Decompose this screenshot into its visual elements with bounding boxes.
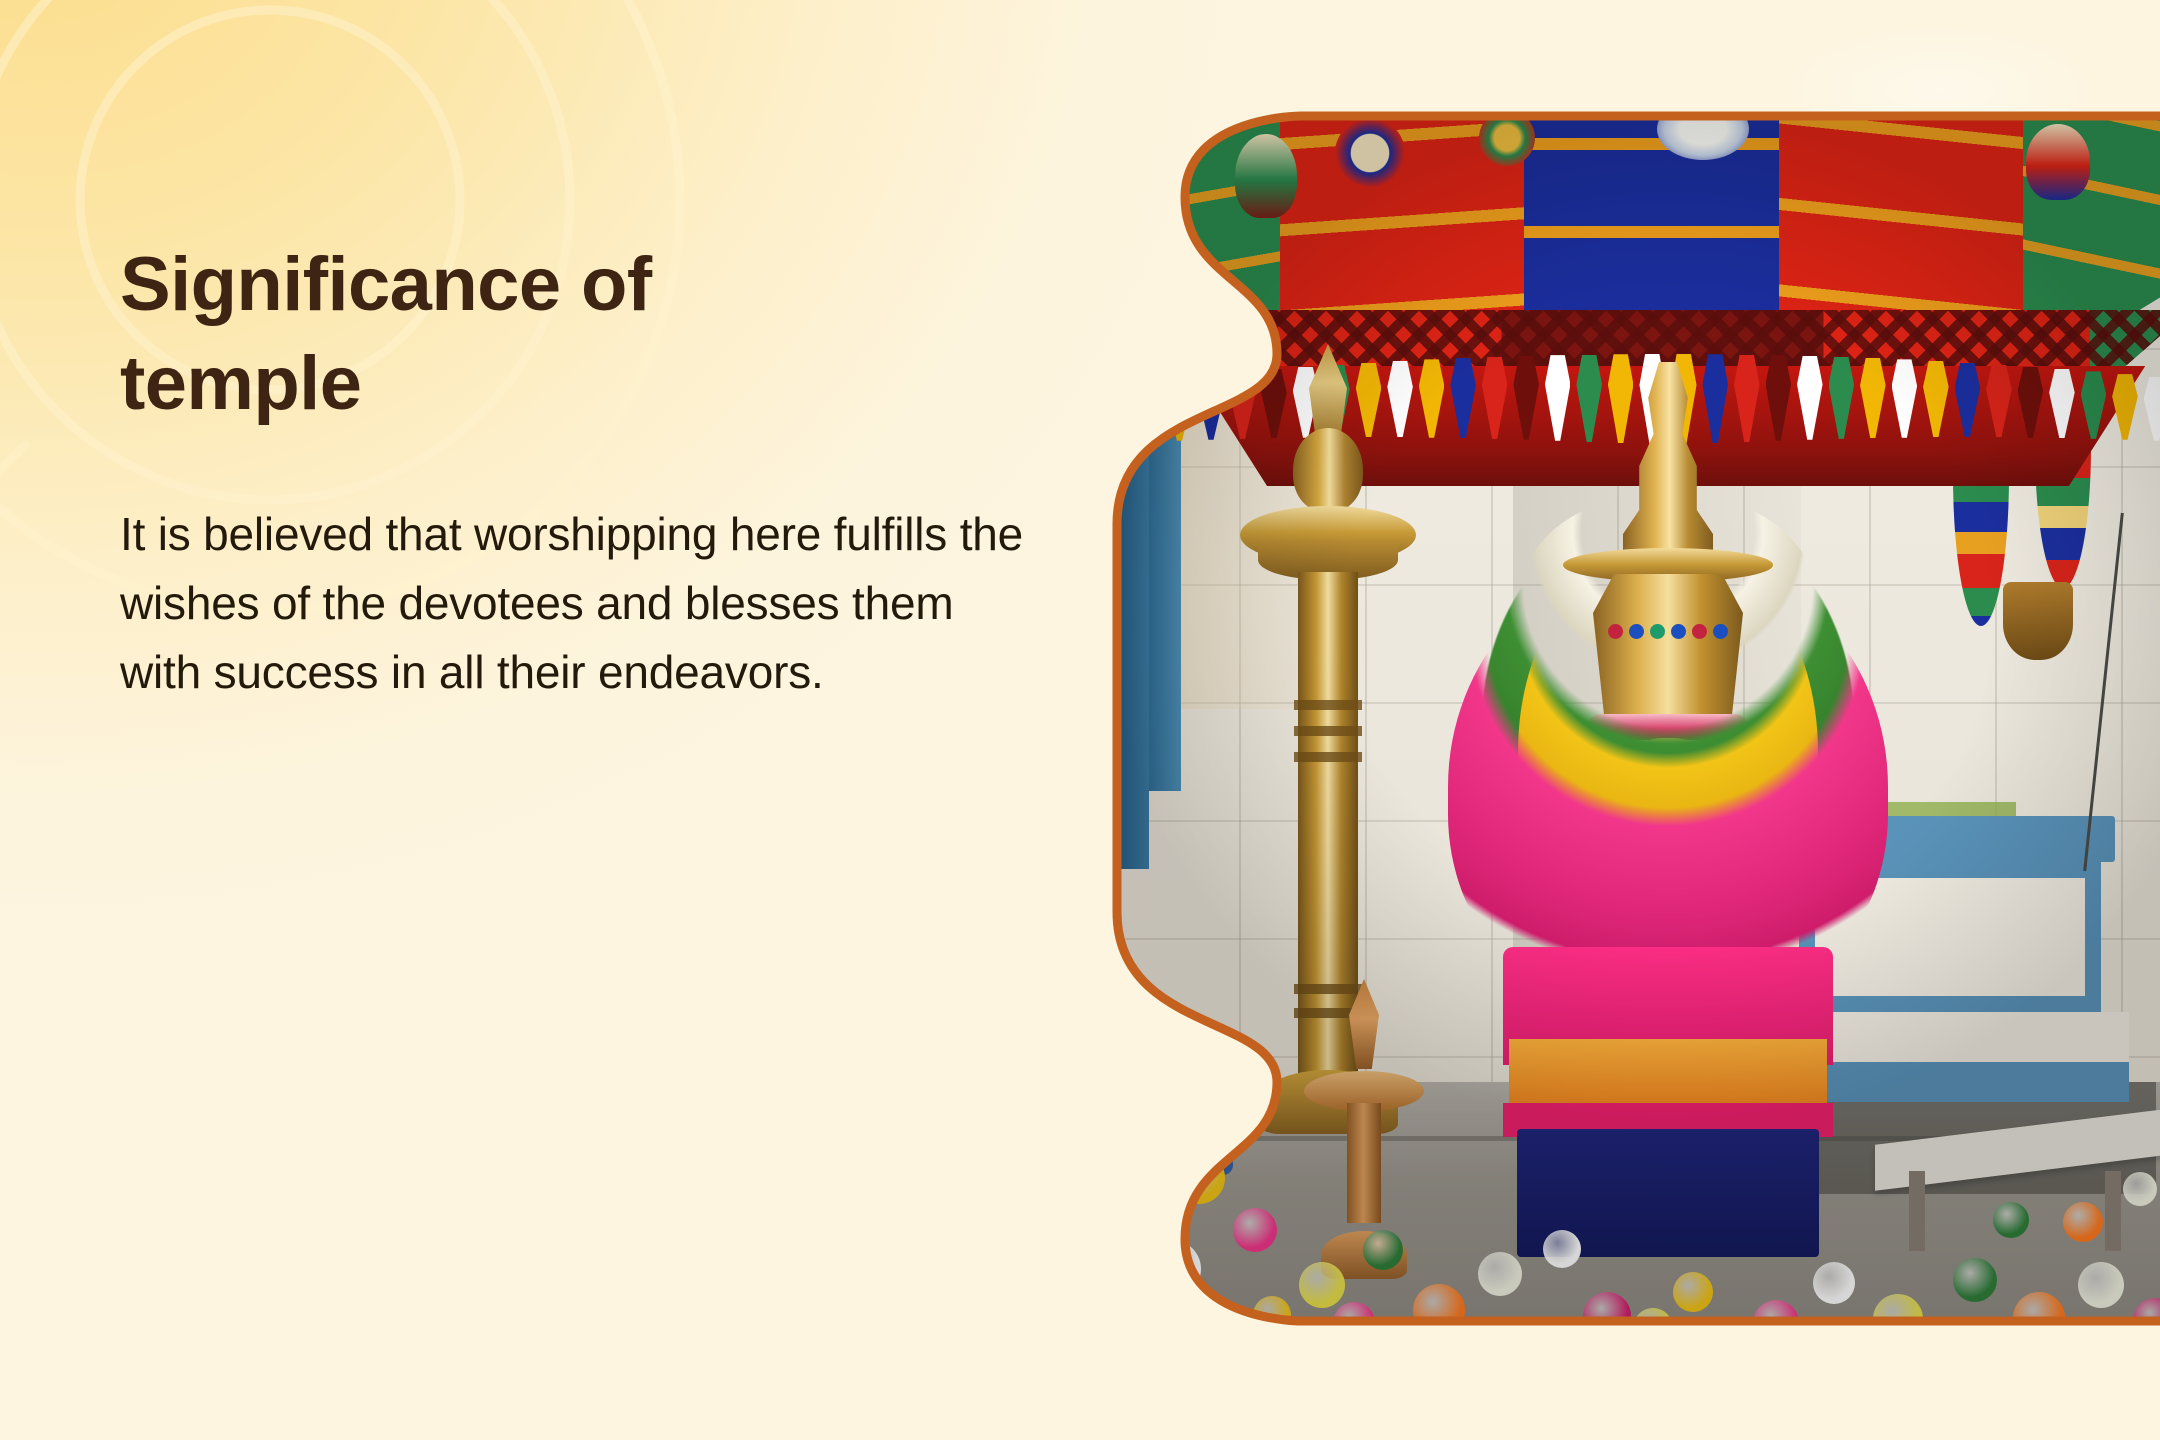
temple-photo-frame <box>1113 112 2160 1325</box>
slide-canvas: Significance of temple It is believed th… <box>0 0 2160 1440</box>
photo-vignette <box>1113 112 2160 1325</box>
text-column: Significance of temple It is believed th… <box>120 236 1040 707</box>
flower <box>1153 1292 1197 1325</box>
temple-scene <box>1113 112 2160 1325</box>
blue-bucket <box>1137 1109 1233 1175</box>
page-title: Significance of temple <box>120 236 820 434</box>
umbrella-tassel <box>1135 380 1161 442</box>
temple-photo <box>1113 112 2160 1325</box>
body-paragraph: It is believed that worshipping here ful… <box>120 500 1030 707</box>
